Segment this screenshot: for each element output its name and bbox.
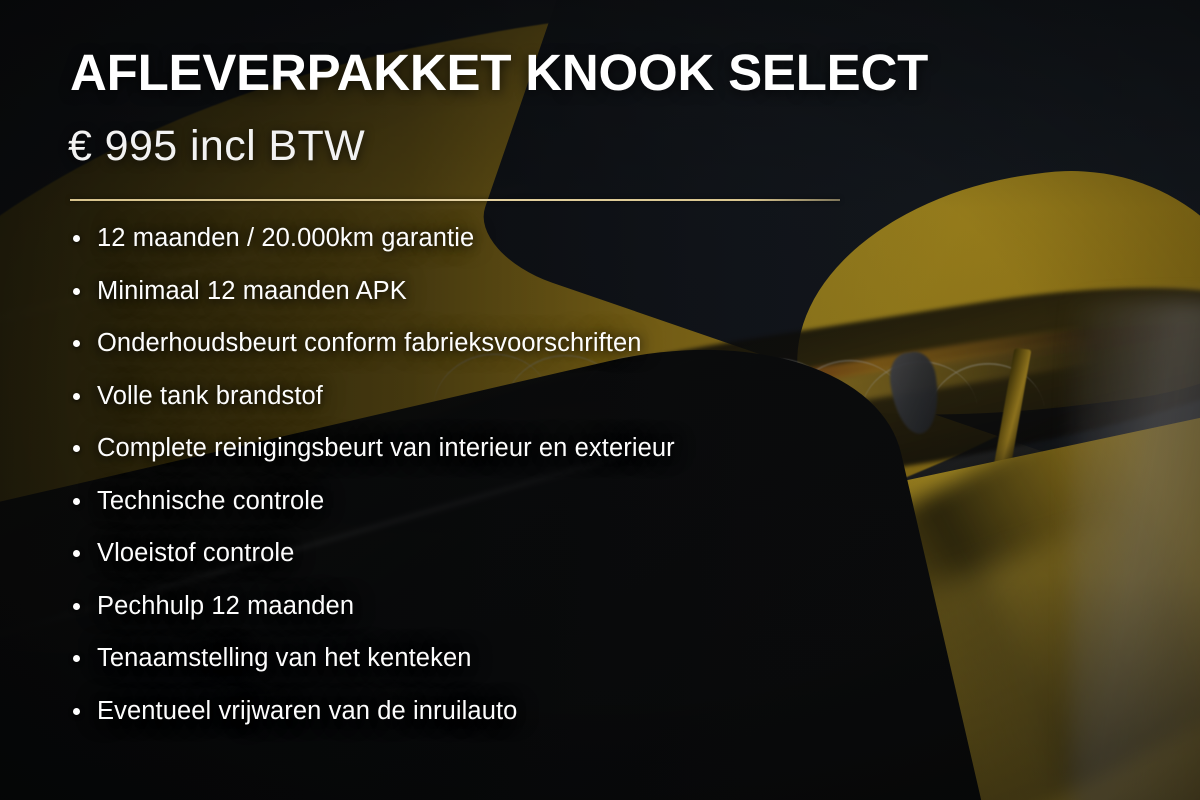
- list-item-label: Volle tank brandstof: [97, 382, 323, 410]
- feature-list: 12 maanden / 20.000km garantie Minimaal …: [70, 220, 1130, 745]
- delivery-package-promo-card: AFLEVERPAKKET KNOOK SELECT € 995 incl BT…: [0, 0, 1200, 800]
- list-item-label: Vloeistof controle: [97, 539, 294, 567]
- list-item: Complete reinigingsbeurt van interieur e…: [70, 430, 1130, 483]
- list-item: Vloeistof controle: [70, 535, 1130, 588]
- list-item: Eventueel vrijwaren van de inruilauto: [70, 693, 1130, 746]
- list-item: Minimaal 12 maanden APK: [70, 273, 1130, 326]
- list-item-label: Complete reinigingsbeurt van interieur e…: [97, 434, 675, 462]
- list-item-label: Technische controle: [97, 487, 324, 515]
- list-item-label: Eventueel vrijwaren van de inruilauto: [97, 697, 517, 725]
- list-item: Pechhulp 12 maanden: [70, 588, 1130, 641]
- bullet-icon: [73, 603, 80, 610]
- price-label: € 995 incl BTW: [68, 123, 365, 170]
- bullet-icon: [73, 393, 80, 400]
- bullet-icon: [73, 445, 80, 452]
- bullet-icon: [73, 550, 80, 557]
- list-item: Tenaamstelling van het kenteken: [70, 640, 1130, 693]
- bullet-icon: [73, 498, 80, 505]
- list-item-label: Tenaamstelling van het kenteken: [97, 644, 472, 672]
- bullet-icon: [73, 288, 80, 295]
- list-item: Onderhoudsbeurt conform fabrieksvoorschr…: [70, 325, 1130, 378]
- bullet-icon: [73, 655, 80, 662]
- list-item-label: Onderhoudsbeurt conform fabrieksvoorschr…: [97, 329, 642, 357]
- bullet-icon: [73, 708, 80, 715]
- card-content: AFLEVERPAKKET KNOOK SELECT € 995 incl BT…: [0, 0, 1200, 800]
- divider: [70, 199, 840, 201]
- list-item-label: Pechhulp 12 maanden: [97, 592, 354, 620]
- page-title: AFLEVERPAKKET KNOOK SELECT: [70, 45, 1130, 100]
- list-item: 12 maanden / 20.000km garantie: [70, 220, 1130, 273]
- bullet-icon: [73, 235, 80, 242]
- list-item: Volle tank brandstof: [70, 378, 1130, 431]
- list-item-label: Minimaal 12 maanden APK: [97, 277, 407, 305]
- list-item-label: 12 maanden / 20.000km garantie: [97, 224, 474, 252]
- list-item: Technische controle: [70, 483, 1130, 536]
- bullet-icon: [73, 340, 80, 347]
